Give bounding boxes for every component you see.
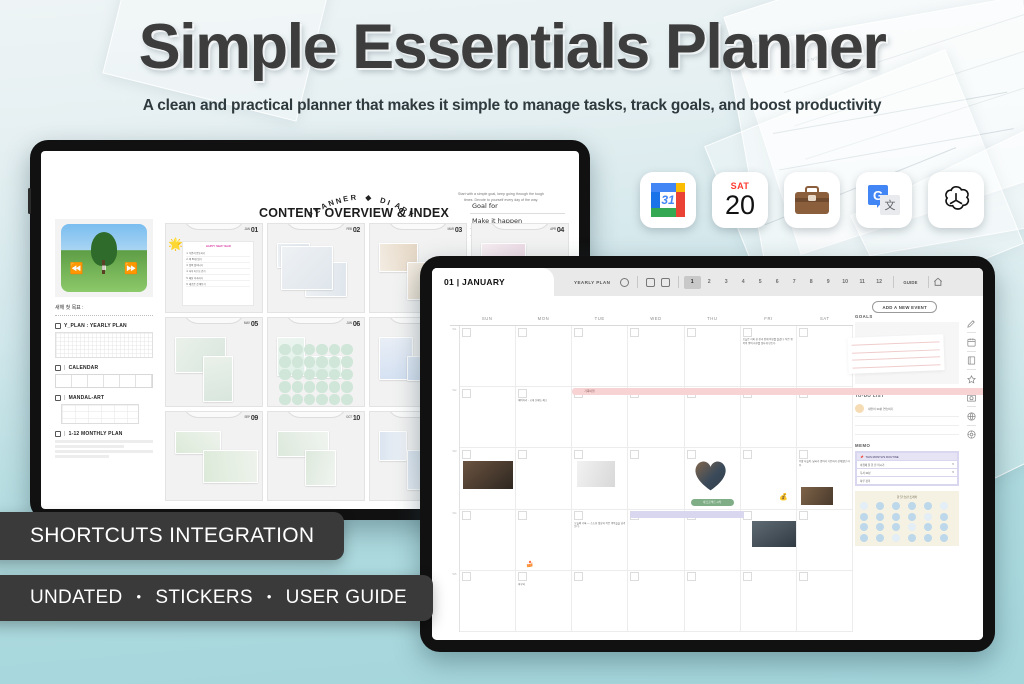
photo-sticker[interactable]	[751, 520, 797, 548]
month-nav-5[interactable]: 5	[752, 276, 769, 289]
sidebar-item-mandal-art[interactable]: | MANDAL-ART	[55, 395, 153, 424]
google-calendar-icon[interactable]: 31	[640, 172, 696, 228]
content-overview-title: CONTENT OVERVIEW & INDEX	[259, 206, 449, 220]
monthly-calendar: SUNMONTUEWEDTHUFRISAT W1W2W3W4W5 오늘은 커피 …	[450, 316, 853, 632]
week-number: W3	[450, 448, 459, 509]
month-nav-4[interactable]: 4	[735, 276, 752, 289]
week-number: W1	[450, 326, 459, 387]
weekday-header: SUNMONTUEWEDTHUFRISAT	[450, 316, 853, 323]
day-number-box[interactable]	[518, 572, 527, 581]
event-note[interactable]: 오늘의 기록 — 소소한 일상과 작은 행복들을 남겨둔다.	[574, 522, 625, 530]
feature-undated: UNDATED	[30, 587, 123, 609]
page-subtitle: A clean and practical planner that makes…	[0, 97, 1024, 115]
separator-dot: •	[137, 589, 142, 604]
card-tab	[489, 223, 550, 230]
translate-cjk-glyph: 文	[880, 195, 900, 215]
weekday-wed: WED	[628, 316, 684, 323]
habit-circle[interactable]	[908, 523, 916, 531]
habit-circle[interactable]	[924, 534, 932, 542]
memo-row[interactable]: 독서 30분 V	[857, 469, 957, 476]
month-nav-11[interactable]: 11	[854, 276, 871, 289]
habit-circle[interactable]	[876, 523, 884, 531]
calendar-icon	[55, 365, 61, 371]
calendar-cell[interactable]	[628, 326, 684, 387]
memo-card-title: THIS MONTH'S ROUTINE	[865, 455, 898, 459]
grid-icon	[55, 323, 61, 329]
calendar-cell[interactable]: 오늘은 커피 한 잔과 함께 여유를 즐겼다. 작은 행복이 쌓여 하루를 빛나…	[741, 326, 797, 387]
yearly-plan-grid	[55, 332, 153, 358]
todo-item-label: 새언어 30분 연습하기	[868, 407, 893, 411]
current-month-label: 01 | JANUARY	[444, 277, 505, 287]
calendar-strip	[55, 374, 153, 388]
day-number-box[interactable]	[574, 511, 583, 520]
habit-circle[interactable]	[860, 534, 868, 542]
calendar-cell[interactable]	[628, 571, 684, 632]
month-card-art	[170, 331, 258, 403]
calendar-cell[interactable]	[797, 387, 853, 448]
rail-divider	[967, 369, 976, 370]
month-nav-6[interactable]: 6	[769, 276, 786, 289]
habit-circle[interactable]	[876, 534, 884, 542]
habit-circle[interactable]	[860, 523, 868, 531]
month-nav-12[interactable]: 12	[871, 276, 888, 289]
photo-sticker[interactable]	[800, 486, 834, 506]
day-number-box[interactable]	[518, 450, 527, 459]
day-number-box[interactable]	[687, 328, 696, 337]
day-number-box[interactable]	[630, 572, 639, 581]
month-index-card[interactable]: JUN06	[267, 317, 365, 407]
day-number-box[interactable]	[687, 572, 696, 581]
calendar-cell[interactable]	[797, 326, 853, 387]
calendar-cell[interactable]	[628, 387, 684, 448]
globe-icon[interactable]	[966, 411, 977, 422]
calendar-cell[interactable]	[741, 571, 797, 632]
day-number-box[interactable]	[799, 328, 808, 337]
month-nav-10[interactable]: 10	[837, 276, 854, 289]
mandal-art-grid	[61, 404, 139, 424]
day-number-box[interactable]	[462, 389, 471, 398]
event-note[interactable]: 마무리	[518, 583, 569, 587]
sidebar-item-calendar[interactable]: | CALENDAR	[55, 365, 153, 388]
calendar-cell[interactable]	[460, 387, 516, 448]
memo-row-text: 아침에 물 한 잔 마시기	[860, 463, 884, 467]
sidebar-item-yearly-plan[interactable]: Y_PLAN : YEARLY PLAN	[55, 323, 153, 358]
calendar-cell[interactable]	[572, 448, 628, 509]
memo-row-text: 독서 30분	[860, 471, 871, 475]
calendar-cell[interactable]	[685, 326, 741, 387]
month-index-card[interactable]: SEP09	[165, 411, 263, 501]
week-number: W2	[450, 387, 459, 448]
feature-user-guide: USER GUIDE	[286, 587, 407, 609]
arch-letter: ◆	[365, 193, 373, 203]
sidebar-item-label: Y_PLAN : YEARLY PLAN	[64, 323, 127, 329]
star-sticker: 🌟	[168, 238, 183, 250]
habit-circle[interactable]	[860, 513, 868, 521]
month-abbr: OCT	[346, 415, 352, 419]
day-number-box[interactable]	[799, 511, 808, 520]
calendar-grid[interactable]: 오늘은 커피 한 잔과 함께 여유를 즐겼다. 작은 행복이 쌓여 하루를 빛나…	[459, 326, 853, 632]
todo-sticker-icon	[855, 404, 864, 413]
event-bar-label: 가족여행	[572, 389, 594, 393]
month-nav-2[interactable]: 2	[701, 276, 718, 289]
weekday-thu: THU	[684, 316, 740, 323]
month-card-label: FEB02	[346, 227, 360, 234]
photo-sticker	[305, 450, 337, 486]
sidebar-item-label: CALENDAR	[69, 365, 99, 371]
jan-note-card: HAPPY NEW YEAR1. 꾸준히 운동하기2. 책 50권 읽기3. 일…	[182, 241, 254, 306]
day-number-box[interactable]	[687, 450, 696, 459]
photo-sticker	[379, 431, 407, 461]
feature-stickers: STICKERS	[155, 587, 252, 609]
openai-chatgpt-icon[interactable]	[928, 172, 984, 228]
week-number: W5	[450, 571, 459, 632]
day-number-box[interactable]	[574, 572, 583, 581]
calendar-cell[interactable]	[797, 571, 853, 632]
calendar-cell[interactable]	[516, 448, 572, 509]
arch-letter: R	[350, 193, 357, 203]
card-tab	[285, 411, 346, 418]
shortcuts-integration-label: SHORTCUTS INTEGRATION	[30, 524, 314, 548]
day-number-box[interactable]	[462, 572, 471, 581]
habit-circle[interactable]	[940, 513, 948, 521]
nav-divider	[637, 276, 638, 288]
rail-divider	[967, 406, 976, 407]
memo-heading: MEMO	[855, 443, 959, 448]
nav-divider	[678, 276, 679, 288]
photo-sticker	[203, 356, 234, 401]
pause-icon[interactable]: ⏸	[101, 262, 107, 275]
hero-section: Simple Essentials Planner A clean and pr…	[0, 16, 1024, 115]
star-icon[interactable]	[966, 374, 977, 385]
habit-circle[interactable]	[892, 523, 900, 531]
planner-diary-arch-text: PLANNER ◆ DIARY	[296, 173, 426, 203]
calendar-cell[interactable]: 오늘의 기록 — 소소한 일상과 작은 행복들을 남겨둔다.	[572, 510, 628, 571]
habit-tracker-grid[interactable]	[860, 502, 954, 542]
goal-note-line1: Goal for	[470, 199, 565, 214]
month-card-label: JAN01	[244, 227, 258, 234]
memo-row-check: V	[952, 463, 954, 467]
calendar-cell[interactable]	[685, 387, 741, 448]
calendar-icon[interactable]	[661, 278, 670, 287]
shortcuts-integration-banner: SHORTCUTS INTEGRATION	[0, 512, 344, 560]
habit-circle[interactable]	[876, 513, 884, 521]
goals-heading: GOALS	[855, 314, 959, 319]
book-icon	[55, 431, 61, 437]
yearly-plan-link[interactable]: YEARLY PLAN	[574, 280, 610, 285]
day-number-box[interactable]	[462, 511, 471, 520]
guide-link[interactable]: GUIDE	[898, 280, 922, 285]
calendar-cell[interactable]	[741, 387, 797, 448]
calendar-cell[interactable]	[460, 571, 516, 632]
monthly-plan-lines	[55, 440, 153, 458]
habit-circle[interactable]	[860, 502, 868, 510]
forward-icon[interactable]: ⏩	[124, 262, 138, 275]
day-number-box[interactable]	[518, 511, 527, 520]
google-translate-icon[interactable]: G 文	[856, 172, 912, 228]
memo-row-check: V	[952, 471, 954, 475]
arch-letter: E	[342, 194, 350, 204]
habit-circle[interactable]	[940, 523, 948, 531]
calendar-cell[interactable]	[572, 571, 628, 632]
habit-circle[interactable]	[924, 502, 932, 510]
day-number-box[interactable]	[574, 450, 583, 459]
month-index-card[interactable]: FEB02	[267, 223, 365, 313]
habit-tracker-sticker[interactable]: 한 달 습관 트래커	[855, 491, 959, 546]
card-tab	[183, 317, 244, 324]
calendar-cell[interactable]	[460, 326, 516, 387]
calendar-cell[interactable]	[572, 326, 628, 387]
photo-sticker[interactable]	[576, 460, 616, 488]
habit-circle[interactable]	[908, 502, 916, 510]
todo-empty-row[interactable]	[855, 426, 959, 435]
weekday-fri: FRI	[740, 316, 796, 323]
calendar-cell[interactable]	[460, 510, 516, 571]
todo-empty-row[interactable]	[855, 417, 959, 426]
rail-divider	[967, 425, 976, 426]
tool-rail	[959, 296, 983, 640]
month-index-card[interactable]: JAN01HAPPY NEW YEAR1. 꾸준히 운동하기2. 책 50권 읽…	[165, 223, 263, 313]
settings-icon[interactable]	[966, 429, 977, 440]
rail-divider	[967, 332, 976, 333]
sidebar-caption: 새해 첫 목표 :	[55, 304, 153, 311]
day-number-box[interactable]	[743, 572, 752, 581]
pen-icon[interactable]	[966, 318, 977, 329]
month-abbr: SEP	[244, 415, 249, 419]
memo-sticker-card[interactable]: 📌 THIS MONTH'S ROUTINE 아침에 물 한 잔 마시기 V 독…	[855, 451, 959, 486]
habit-circle[interactable]	[924, 513, 932, 521]
goals-note-card	[847, 334, 944, 374]
event-bar-pink[interactable]: 가족여행	[572, 388, 983, 395]
briefcase-icon[interactable]	[784, 172, 840, 228]
month-card-label: MAY05	[244, 321, 258, 328]
event-bar-purple[interactable]	[630, 511, 743, 518]
habit-circles	[279, 344, 353, 397]
globe-icon[interactable]	[620, 278, 629, 287]
month-nav-9[interactable]: 9	[820, 276, 837, 289]
day-number-box[interactable]	[743, 328, 752, 337]
card-tab	[387, 223, 448, 230]
day-number-box[interactable]	[630, 450, 639, 459]
weekday-sat: SAT	[797, 316, 853, 323]
calendar-cell[interactable]: 새 프로젝트 시작	[685, 448, 741, 509]
month-abbr: JAN	[244, 227, 249, 231]
month-abbr: JUN	[346, 321, 351, 325]
front-tablet-device: 01 | JANUARY YEARLY PLAN123456789101112G…	[420, 256, 995, 652]
calendar-cell[interactable]	[797, 510, 853, 571]
month-card-art	[272, 425, 360, 497]
day-number-box[interactable]	[518, 328, 527, 337]
day-number-box[interactable]	[743, 450, 752, 459]
month-nav-7[interactable]: 7	[786, 276, 803, 289]
memo-row-text: 하루 정리	[860, 479, 870, 483]
card-tab	[183, 411, 244, 418]
calendar-cell[interactable]	[685, 571, 741, 632]
month-card-art: HAPPY NEW YEAR1. 꾸준히 운동하기2. 책 50권 읽기3. 일…	[170, 237, 258, 309]
money-sticker: 💰	[779, 493, 788, 501]
event-pill-green[interactable]: 새 프로젝트 시작	[691, 499, 734, 506]
add-new-event-button[interactable]: ADD A NEW EVENT	[872, 301, 937, 313]
sidebar-item-label: MANDAL-ART	[69, 395, 105, 401]
calendar-cell[interactable]	[685, 510, 741, 571]
month-nav: YEARLY PLAN123456789101112GUIDE	[554, 268, 983, 296]
month-abbr: APR	[550, 227, 556, 231]
habit-circle[interactable]	[908, 513, 916, 521]
event-note[interactable]: 오늘은 커피 한 잔과 함께 여유를 즐겼다. 작은 행복이 쌓여 하루를 빛나…	[743, 338, 794, 346]
calendar-cell[interactable]: 마무리	[516, 571, 572, 632]
heart-photo-sticker[interactable]	[693, 459, 729, 491]
habit-circle[interactable]	[892, 502, 900, 510]
habit-circle[interactable]	[940, 534, 948, 542]
card-tab	[285, 317, 346, 324]
day-number-box[interactable]	[462, 328, 471, 337]
month-card-label: APR04	[550, 227, 564, 234]
habit-circle[interactable]	[924, 523, 932, 531]
event-note[interactable]: 주말 나들이. 날씨가 좋아서 기분까지 상쾌했던 하루.	[799, 460, 850, 468]
month-index-card[interactable]: OCT10	[267, 411, 365, 501]
event-note[interactable]: 베이커리 - 교대 신메뉴 체크	[518, 399, 569, 403]
home-icon[interactable]	[933, 277, 943, 287]
calendar-cell[interactable]: 주말 나들이. 날씨가 좋아서 기분까지 상쾌했던 하루.	[797, 448, 853, 509]
habit-tracker-title: 한 달 습관 트래커	[860, 495, 954, 499]
google-calendar-day: 31	[660, 192, 676, 208]
day-number-box[interactable]	[799, 450, 808, 459]
front-top-navbar: 01 | JANUARY YEARLY PLAN123456789101112G…	[432, 268, 983, 296]
calendar-cell[interactable]: 베이커리 - 교대 신메뉴 체크	[516, 387, 572, 448]
calendar-cell[interactable]	[516, 326, 572, 387]
weekday-sun: SUN	[459, 316, 515, 323]
month-card-label: JUN06	[346, 321, 360, 328]
photo-sticker	[281, 246, 333, 290]
todo-item[interactable]: 새언어 30분 연습하기	[855, 401, 959, 417]
calendar-cell[interactable]: 가족여행	[572, 387, 628, 448]
month-index-card[interactable]: MAY05	[165, 317, 263, 407]
card-tab	[183, 223, 244, 230]
habit-circle[interactable]	[876, 502, 884, 510]
month-abbr: MAR	[447, 227, 453, 231]
weekday-mon: MON	[515, 316, 571, 323]
book-icon[interactable]	[966, 355, 977, 366]
page-title: Simple Essentials Planner	[0, 16, 1024, 79]
apple-calendar-day: 20	[725, 192, 755, 219]
month-card-art	[272, 237, 360, 309]
calendar-cell[interactable]	[741, 510, 797, 571]
month-card-label: OCT10	[346, 415, 360, 422]
card-tab	[285, 223, 346, 230]
week-number-column: W1W2W3W4W5	[450, 326, 459, 632]
nav-divider	[893, 276, 894, 288]
calendar-cell[interactable]	[460, 448, 516, 509]
week-number: W4	[450, 510, 459, 571]
photo-sticker	[203, 450, 258, 482]
day-number-box[interactable]	[799, 572, 808, 581]
pin-icon: 📌	[860, 455, 863, 459]
month-card-art	[272, 331, 360, 403]
back-sidebar: ⏪ ⏸ ⏩ 새해 첫 목표 : Y_PLAN : YEARLY PLAN	[55, 219, 153, 465]
apple-calendar-icon[interactable]: SAT 20	[712, 172, 768, 228]
sidebar-item-label: 1-12 MONTHLY PLAN	[69, 431, 123, 437]
day-number-box[interactable]	[630, 328, 639, 337]
square-icon	[55, 395, 61, 401]
month-nav-8[interactable]: 8	[803, 276, 820, 289]
month-card-label: MAR03	[447, 227, 462, 234]
month-card-art	[170, 425, 258, 497]
separator-dot: •	[267, 589, 272, 604]
rail-divider	[967, 351, 976, 352]
calendar-icon[interactable]	[966, 337, 977, 348]
front-tablet-screen: 01 | JANUARY YEARLY PLAN123456789101112G…	[432, 268, 983, 640]
nav-divider	[928, 276, 929, 288]
day-number-box[interactable]	[574, 328, 583, 337]
video-thumbnail[interactable]: ⏪ ⏸ ⏩	[55, 219, 153, 297]
habit-circle[interactable]	[940, 502, 948, 510]
page-icon[interactable]	[646, 278, 655, 287]
calendar-cell[interactable]	[628, 510, 684, 571]
side-panel: GOALS TO-DO LIST 새언어 30분 연습하기 MEMO 📌 THI…	[855, 314, 959, 634]
month-abbr: FEB	[346, 227, 351, 231]
memo-row[interactable]: 아침에 물 한 잔 마시기 V	[857, 461, 957, 468]
memo-row[interactable]: 하루 정리	[857, 477, 957, 484]
month-nav-3[interactable]: 3	[718, 276, 735, 289]
calendar-cell[interactable]: 💰	[741, 448, 797, 509]
calendar-cell[interactable]	[628, 448, 684, 509]
app-icon-row: 31 SAT 20 G 文	[640, 172, 984, 228]
cake-sticker: 🍰	[526, 561, 533, 568]
current-month-tab[interactable]: 01 | JANUARY	[432, 268, 554, 296]
habit-circle[interactable]	[892, 513, 900, 521]
month-abbr: MAY	[244, 321, 250, 325]
calendar-cell[interactable]: 🍰	[516, 510, 572, 571]
day-number-box[interactable]	[518, 389, 527, 398]
photo-sticker[interactable]	[462, 460, 514, 490]
month-nav-1[interactable]: 1	[684, 276, 701, 289]
rewind-icon[interactable]: ⏪	[70, 262, 84, 275]
habit-circle[interactable]	[892, 534, 900, 542]
month-card-label: SEP09	[244, 415, 258, 422]
day-number-box[interactable]	[462, 450, 471, 459]
weekday-tue: TUE	[572, 316, 628, 323]
sidebar-item-monthly-plan[interactable]: | 1-12 MONTHLY PLAN	[55, 431, 153, 458]
habit-circle[interactable]	[908, 534, 916, 542]
features-banner: UNDATED • STICKERS • USER GUIDE	[0, 575, 433, 621]
goals-box[interactable]	[855, 322, 959, 384]
media-controls[interactable]: ⏪ ⏸ ⏩	[61, 262, 147, 275]
